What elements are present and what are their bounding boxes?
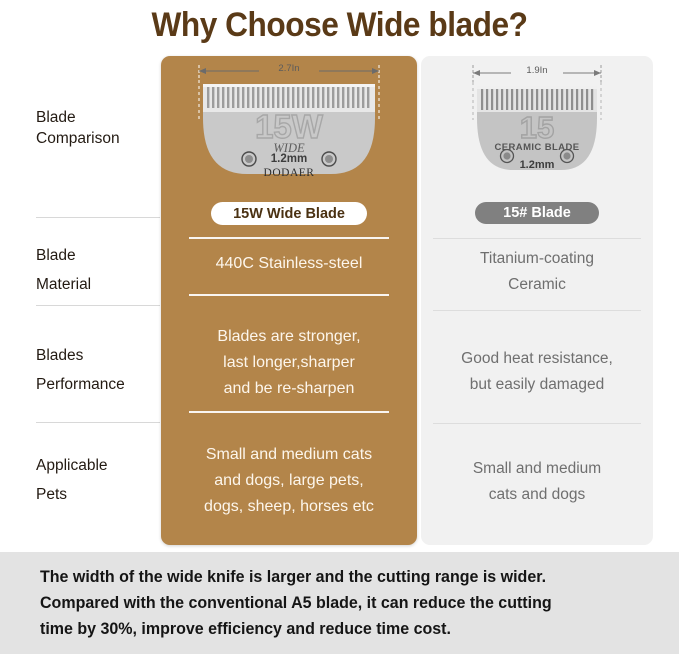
- perf-line1: Good heat resistance,: [429, 346, 645, 372]
- standard-blade-badge: 15# Blade: [475, 202, 599, 224]
- row-label-applicable-pets: Applicable Pets: [36, 450, 160, 510]
- row-label-column: Blade Comparison Blade Material Blades P…: [0, 50, 160, 552]
- wide-blade-badge: 15W Wide Blade: [211, 202, 367, 225]
- row-label-line1: Blades: [36, 345, 160, 366]
- pets-line3: dogs, sheep, horses etc: [171, 494, 407, 520]
- panel-divider: [433, 238, 641, 239]
- footer-paragraph: The width of the wide knife is larger an…: [40, 564, 630, 642]
- row-label-line1: Applicable: [36, 455, 160, 476]
- wide-blade-image: 15W 2.7In WIDE 1.2mm DODAER: [181, 62, 397, 202]
- pets-line1: Small and medium: [429, 456, 645, 482]
- comparison-table: Blade Comparison Blade Material Blades P…: [0, 50, 679, 552]
- row-label-line2: Comparison: [36, 128, 160, 149]
- row-label-blade-comparison: Blade Comparison: [36, 98, 160, 158]
- pets-line2: and dogs, large pets,: [171, 468, 407, 494]
- wide-blade-performance: Blades are stronger, last longer,sharper…: [171, 324, 407, 402]
- wide-blade-material: 440C Stainless-steel: [171, 251, 407, 277]
- material-line1: Titanium-coating: [429, 246, 645, 272]
- row-label-line2: Material: [36, 274, 160, 295]
- footer-line2: Compared with the conventional A5 blade,…: [40, 594, 552, 612]
- wide-blade-brand: DODAER: [181, 167, 397, 179]
- wide-blade-svg: 15W: [181, 62, 397, 202]
- panel-divider: [433, 423, 641, 424]
- row-label-line1: Blade: [36, 107, 160, 128]
- panel-divider: [433, 310, 641, 311]
- row-divider: [36, 305, 160, 306]
- row-label-line2: Performance: [36, 374, 160, 395]
- standard-blade-material: Titanium-coating Ceramic: [429, 246, 645, 298]
- standard-blade-thickness: 1.2mm: [451, 159, 623, 171]
- pets-line2: cats and dogs: [429, 482, 645, 508]
- perf-line2: but easily damaged: [429, 372, 645, 398]
- wide-blade-dimension: 2.7In: [181, 63, 397, 74]
- footer-line1: The width of the wide knife is larger an…: [40, 568, 546, 586]
- row-label-blade-material: Blade Material: [36, 240, 160, 300]
- wide-blade-thickness: 1.2mm: [181, 153, 397, 165]
- pets-line1: Small and medium cats: [171, 442, 407, 468]
- perf-line3: and be re-sharpen: [171, 376, 407, 402]
- footer-line3: time by 30%, improve efficiency and redu…: [40, 620, 451, 638]
- row-label-blades-performance: Blades Performance: [36, 340, 160, 400]
- row-divider: [36, 422, 160, 423]
- standard-blade-column: 15 1.9In CERAMIC BLADE 1.2mm 15# Blade T…: [421, 56, 653, 545]
- standard-blade-number: 15: [520, 110, 554, 145]
- card-divider: [189, 411, 389, 413]
- standard-blade-image: 15 1.9In CERAMIC BLADE 1.2mm: [451, 62, 623, 202]
- standard-blade-material-mark: CERAMIC BLADE: [451, 142, 623, 153]
- row-label-line1: Blade: [36, 245, 160, 266]
- row-label-line2: Pets: [36, 484, 160, 505]
- card-divider: [189, 237, 389, 239]
- standard-blade-performance: Good heat resistance, but easily damaged: [429, 346, 645, 398]
- standard-blade-dimension: 1.9In: [451, 65, 623, 76]
- wide-blade-pets: Small and medium cats and dogs, large pe…: [171, 442, 407, 520]
- row-divider: [36, 217, 160, 218]
- standard-blade-pets: Small and medium cats and dogs: [429, 456, 645, 508]
- footer-band: The width of the wide knife is larger an…: [0, 552, 679, 654]
- wide-blade-number: 15W: [255, 108, 324, 145]
- wide-blade-column: 15W 2.7In WIDE 1.2mm DODAER 15W Wide Bla…: [161, 56, 417, 545]
- perf-line1: Blades are stronger,: [171, 324, 407, 350]
- card-divider: [189, 294, 389, 296]
- material-line2: Ceramic: [429, 272, 645, 298]
- standard-blade-svg: 15: [451, 62, 623, 202]
- page-title: Why Choose Wide blade?: [24, 0, 655, 50]
- perf-line2: last longer,sharper: [171, 350, 407, 376]
